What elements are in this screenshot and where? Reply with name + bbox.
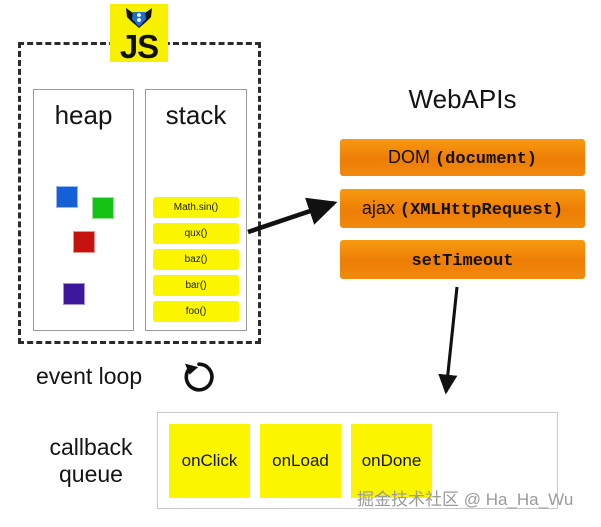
heap-object <box>56 186 78 208</box>
webapi-ajax-box: ajax (XMLHttpRequest) <box>340 189 585 228</box>
stack-frame-list: Math.sin() qux() baz() bar() foo() <box>153 197 239 322</box>
webapis-title: WebAPIs <box>340 84 585 114</box>
callback-queue-label-line1: callback <box>32 434 150 461</box>
stack-frame: foo() <box>153 301 239 322</box>
heap-object <box>73 231 95 253</box>
js-logo-text: JS <box>110 30 168 63</box>
heap-title: heap <box>34 100 133 130</box>
javascript-logo: JS <box>110 4 168 62</box>
webapi-dom-label: DOM (document) <box>388 147 537 169</box>
stack-frame: bar() <box>153 275 239 296</box>
watermark: 掘金技术社区 @ Ha_Ha_Wu <box>357 485 573 510</box>
callback-queue-label-line2: queue <box>32 461 150 488</box>
diagram-canvas: JS heap stack Math.sin() qux() baz() bar… <box>0 0 601 527</box>
circular-arrow-icon <box>182 360 216 394</box>
stack-frame: Math.sin() <box>153 197 239 218</box>
stack-frame: baz() <box>153 249 239 270</box>
webapi-settimeout-box: setTimeout <box>340 240 585 279</box>
heap-panel: heap <box>33 89 134 331</box>
webapi-ajax-label: ajax (XMLHttpRequest) <box>362 198 563 220</box>
callback-item: onLoad <box>260 424 341 498</box>
webapi-settimeout-label: setTimeout <box>411 249 513 271</box>
arrow-webapis-to-callback-queue <box>446 287 457 392</box>
stack-frame: qux() <box>153 223 239 244</box>
stack-title: stack <box>146 100 246 130</box>
webapi-dom-box: DOM (document) <box>340 139 585 176</box>
event-loop-label: event loop <box>36 362 142 390</box>
heap-object <box>63 283 85 305</box>
callback-queue-label: callback queue <box>32 434 150 488</box>
heap-object <box>92 197 114 219</box>
callback-item: onClick <box>169 424 250 498</box>
